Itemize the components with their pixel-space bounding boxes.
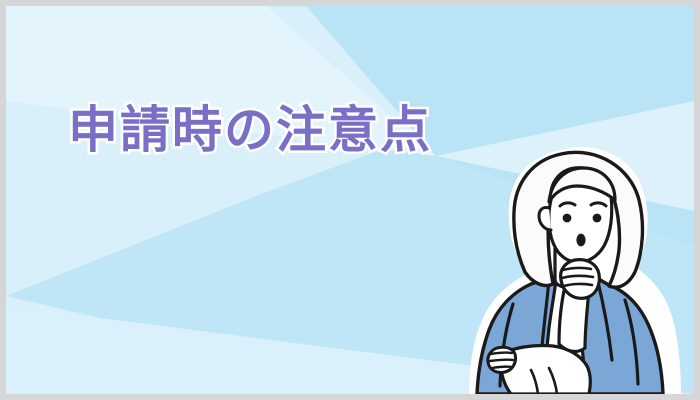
- banner-image: 申請時の注意点: [0, 0, 700, 400]
- thinking-woman-illustration: [457, 144, 692, 394]
- mouth-shape: [576, 234, 585, 247]
- resting-hand: [488, 347, 516, 372]
- chin-hand: [561, 260, 600, 299]
- eye-left: [563, 214, 572, 223]
- eye-right: [593, 214, 602, 223]
